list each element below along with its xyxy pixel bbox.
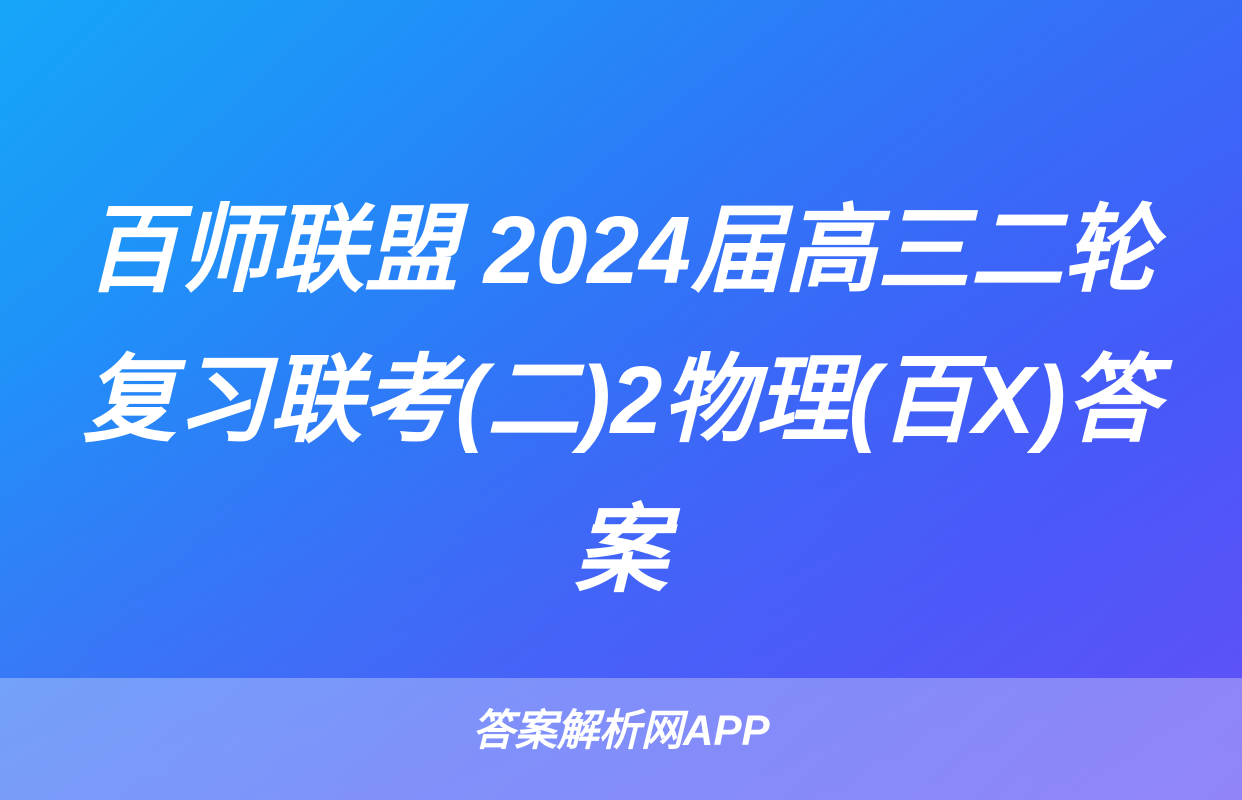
watermark-text: 答案解析网APP — [12, 706, 1229, 756]
page-title: 百师联盟 2024届高三二轮复习联考(二)2物理(百X)答案 — [77, 176, 1165, 626]
poster-canvas: 百师联盟 2024届高三二轮复习联考(二)2物理(百X)答案 答案解析网APP — [0, 0, 1242, 800]
